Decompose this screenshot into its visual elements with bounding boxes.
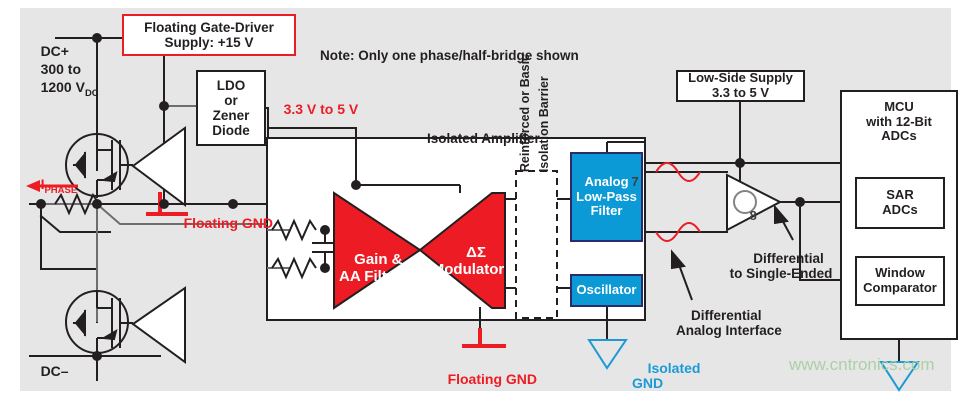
- low-side-supply-box[interactable]: Low-Side Supply 3.3 to 5 V: [676, 70, 805, 102]
- gain-aa-filter-label: Gain &AA Filter: [332, 235, 408, 302]
- oscillator-label: Oscillator: [577, 283, 637, 298]
- ldo-line4: Diode: [212, 123, 250, 138]
- gate-driver-supply-box[interactable]: Floating Gate-Driver Supply: +15 V: [122, 14, 296, 56]
- oscillator-box[interactable]: Oscillator: [570, 274, 643, 307]
- mcu-line2: with 12-Bit: [866, 114, 932, 129]
- gate-driver-supply-line2: Supply: +15 V: [165, 35, 254, 50]
- dc-minus-label: DC–: [25, 348, 69, 395]
- iphase-label: IPHASE: [25, 161, 77, 212]
- analog-lpf-line3: Filter: [591, 203, 623, 218]
- isolation-barrier-shape: [516, 171, 557, 318]
- rail-voltage-label: 3.3 V to 5 V: [268, 86, 358, 133]
- gate-driver-supply-line1: Floating Gate-Driver: [144, 20, 274, 35]
- mcu-line1: MCU: [884, 99, 914, 114]
- differential-analog-interface-label: DifferentialAnalog Interface: [676, 293, 782, 353]
- dc-plus-range-label-2: 1200 VDC: [25, 64, 99, 115]
- window-comparator-line2: Comparator: [863, 280, 937, 295]
- low-side-supply-line2: 3.3 to 5 V: [712, 85, 769, 100]
- diagram-root: Floating Gate-Driver Supply: +15 V LDO o…: [0, 0, 971, 408]
- ldo-line1: LDO: [217, 78, 246, 93]
- step-badge-8-label: 8: [735, 194, 755, 238]
- note-label: Note: Only one phase/half-bridge shown: [305, 33, 579, 78]
- ldo-line2: or: [224, 93, 238, 108]
- step-badge-7-label: 7: [617, 160, 637, 204]
- floating-gnd-bottom-label: Floating GND: [432, 356, 537, 403]
- sar-adcs-box[interactable]: SAR ADCs: [855, 177, 945, 229]
- floating-gnd-left-label: Floating GND: [168, 200, 273, 247]
- window-comparator-box[interactable]: Window Comparator: [855, 256, 945, 306]
- window-comparator-line1: Window: [875, 265, 925, 280]
- diff-to-single-ended-label: Differentialto Single-Ended: [716, 236, 846, 296]
- ldo-box[interactable]: LDO or Zener Diode: [196, 70, 266, 146]
- isolated-gnd-label: IsolatedGND: [632, 345, 700, 408]
- sar-adcs-line1: SAR: [886, 187, 913, 202]
- sar-adcs-line2: ADCs: [882, 202, 917, 217]
- ldo-line3: Zener: [213, 108, 250, 123]
- watermark: www.cntronics.com: [789, 355, 934, 375]
- isolated-amplifier-label: Isolated Amplifier: [412, 116, 540, 161]
- low-side-supply-line1: Low-Side Supply: [688, 70, 793, 85]
- ds-modulator-label: ΔΣModulator: [428, 228, 508, 295]
- mcu-line3: ADCs: [881, 128, 916, 143]
